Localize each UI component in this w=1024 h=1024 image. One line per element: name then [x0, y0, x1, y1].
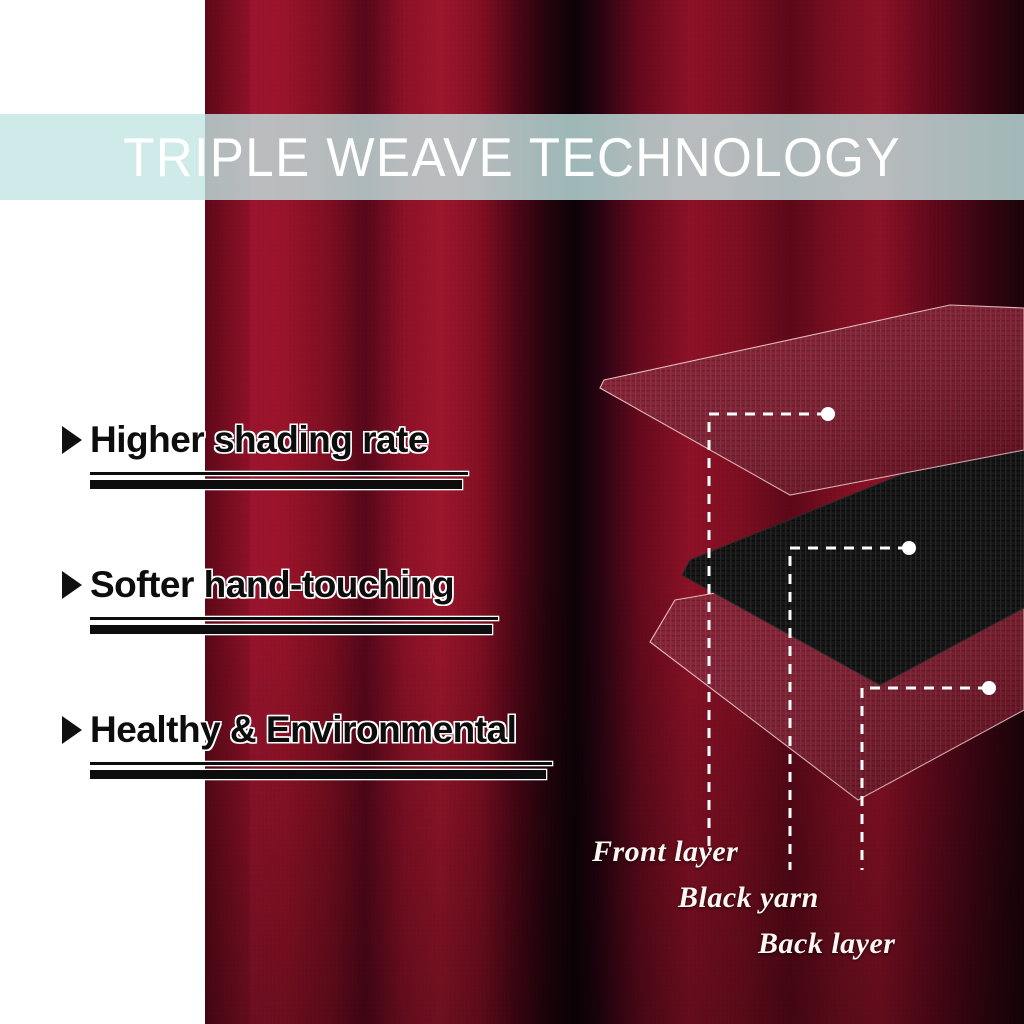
- headline-banner: TRIPLE WEAVE TECHNOLOGY: [0, 114, 1024, 200]
- feature-item-softer-hand-touching: Softer hand-touching: [62, 559, 682, 704]
- page-title: TRIPLE WEAVE TECHNOLOGY: [36, 114, 988, 200]
- feature-underline: [90, 762, 552, 779]
- underline-thin-rule: [90, 762, 552, 765]
- feature-item-healthy-environmental: Healthy & Environmental: [62, 704, 682, 849]
- feature-list: Higher shading rate Softer hand-touching…: [62, 414, 682, 849]
- feature-item-higher-shading-rate: Higher shading rate: [62, 414, 682, 559]
- feature-label: Softer hand-touching: [90, 564, 454, 606]
- diagram-label-black-yarn: Black yarn: [678, 881, 819, 915]
- feature-label: Higher shading rate: [90, 419, 428, 461]
- triangle-right-icon: [62, 426, 82, 454]
- product-feature-image: Front layer Black yarn Back layer TRIPLE…: [0, 0, 1024, 1024]
- underline-thick-rule: [90, 480, 462, 489]
- feature-underline: [90, 617, 498, 634]
- underline-thin-rule: [90, 472, 468, 475]
- underline-thin-rule: [90, 617, 498, 620]
- feature-underline: [90, 472, 468, 489]
- diagram-label-back-layer: Back layer: [758, 927, 895, 961]
- triangle-right-icon: [62, 716, 82, 744]
- feature-label: Healthy & Environmental: [90, 709, 516, 751]
- triangle-right-icon: [62, 571, 82, 599]
- underline-thick-rule: [90, 625, 492, 634]
- underline-thick-rule: [90, 770, 546, 779]
